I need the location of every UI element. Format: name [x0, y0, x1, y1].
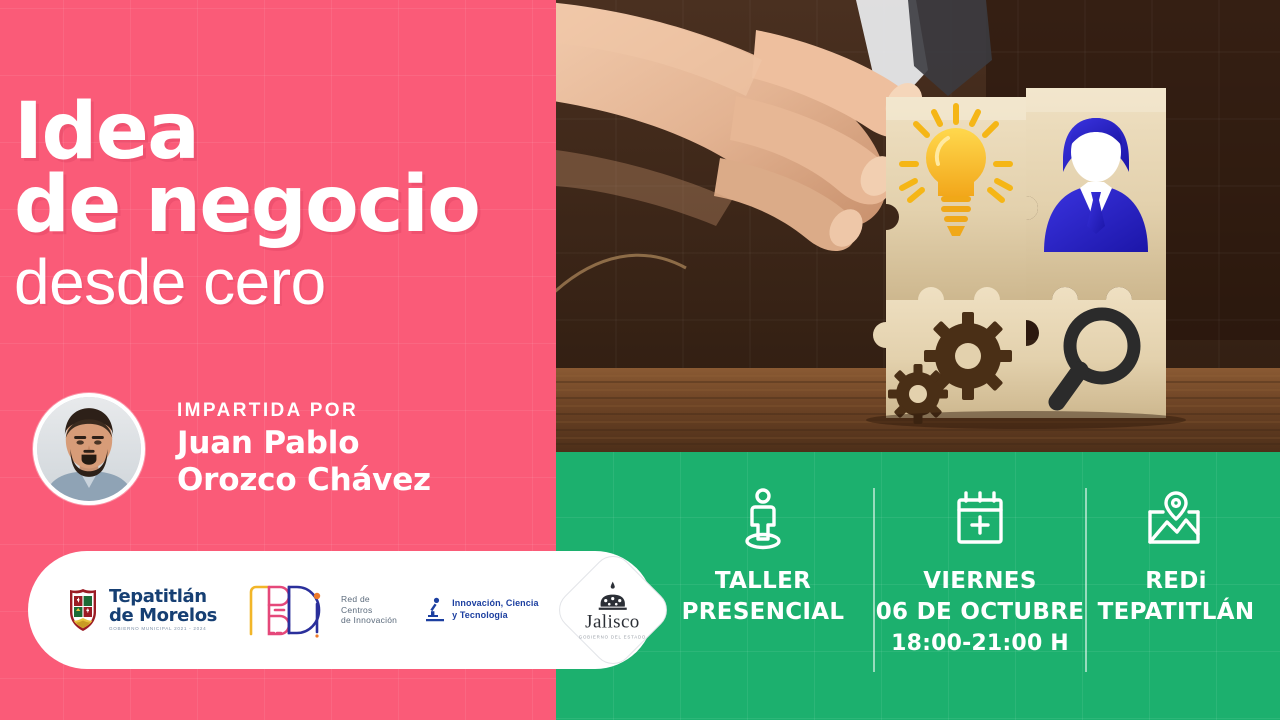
tepatitlan-text: Tepatitlán de Morelos GOBIERNO MUNICIPAL… — [109, 588, 217, 631]
standing-person-icon — [738, 488, 788, 550]
hero-photo — [556, 0, 1280, 452]
title-line-1: Idea — [14, 96, 534, 169]
column-divider — [1085, 488, 1087, 672]
speaker-text: IMPARTIDA POR Juan Pablo Orozco Chávez — [177, 400, 431, 498]
redi-wordmark-icon — [245, 582, 331, 638]
column-divider — [873, 488, 875, 672]
info-columns: TALLER PRESENCIAL VIERNES 06 — [556, 452, 1280, 720]
microscope-icon — [425, 597, 445, 623]
info-line: 06 DE OCTUBRE — [876, 597, 1084, 628]
redi-line-2: Centros — [341, 605, 397, 616]
page-title: Idea de negocio desde cero — [14, 96, 534, 319]
info-column-modality: TALLER PRESENCIAL — [652, 488, 874, 629]
tepatitlan-subtitle: GOBIERNO MUNICIPAL 2021 - 2024 — [109, 627, 217, 632]
imparted-by-label: IMPARTIDA POR — [177, 400, 431, 422]
speaker-block: IMPARTIDA POR Juan Pablo Orozco Chávez — [33, 393, 431, 505]
info-line: TALLER — [682, 566, 845, 597]
info-text-modality: TALLER PRESENCIAL — [682, 566, 845, 629]
crown-icon — [593, 580, 633, 610]
logo-redi: Red de Centros de Innovación — [245, 582, 397, 638]
jalisco-name: Jalisco — [579, 611, 646, 633]
jalisco-badge: Jalisco GOBIERNO DEL ESTADO — [550, 548, 674, 672]
info-line: REDi — [1098, 566, 1255, 597]
info-line: TEPATITLÁN — [1098, 597, 1255, 628]
jalisco-inner: Jalisco GOBIERNO DEL ESTADO — [579, 580, 646, 639]
avatar — [33, 393, 145, 505]
jalisco-subtitle: GOBIERNO DEL ESTADO — [579, 634, 646, 639]
redi-line-3: de Innovación — [341, 615, 397, 626]
info-text-venue: REDi TEPATITLÁN — [1098, 566, 1255, 629]
title-line-3: desde cero — [14, 247, 534, 319]
info-line: 18:00-21:00 H — [876, 629, 1084, 659]
info-text-date: VIERNES 06 DE OCTUBRE 18:00-21:00 H — [876, 566, 1084, 658]
speaker-name-line-2: Orozco Chávez — [177, 462, 431, 498]
info-line: VIERNES — [876, 566, 1084, 597]
event-info-panel: TALLER PRESENCIAL VIERNES 06 — [556, 452, 1280, 720]
speaker-name-line-1: Juan Pablo — [177, 425, 431, 461]
icyt-text: Innovación, Ciencia y Tecnología — [452, 598, 538, 621]
info-column-venue: REDi TEPATITLÁN — [1086, 488, 1266, 629]
avatar-photo — [37, 397, 141, 501]
calendar-plus-icon — [954, 488, 1006, 550]
sponsor-logo-bar: Tepatitlán de Morelos GOBIERNO MUNICIPAL… — [28, 551, 654, 669]
icyt-line-2: y Tecnología — [452, 610, 538, 622]
redi-text: Red de Centros de Innovación — [341, 594, 397, 627]
info-column-date: VIERNES 06 DE OCTUBRE 18:00-21:00 H — [874, 488, 1086, 658]
info-line: PRESENCIAL — [682, 597, 845, 628]
tepatitlan-line-1: Tepatitlán — [109, 588, 217, 606]
poster-canvas: Idea de negocio desde cero — [0, 0, 1280, 720]
redi-line-1: Red de — [341, 594, 397, 605]
coat-of-arms-shield-icon — [66, 588, 100, 632]
tepatitlan-line-2: de Morelos — [109, 607, 217, 625]
puzzle-photo-illustration — [556, 0, 1280, 452]
logo-tepatitlan: Tepatitlán de Morelos GOBIERNO MUNICIPAL… — [66, 588, 217, 632]
logo-jalisco: Jalisco GOBIERNO DEL ESTADO — [569, 566, 657, 654]
logo-innovacion-ciencia-tecnologia: Innovación, Ciencia y Tecnología — [425, 597, 538, 623]
map-pin-icon — [1145, 488, 1207, 550]
icyt-line-1: Innovación, Ciencia — [452, 598, 538, 610]
title-line-2: de negocio — [14, 169, 534, 242]
